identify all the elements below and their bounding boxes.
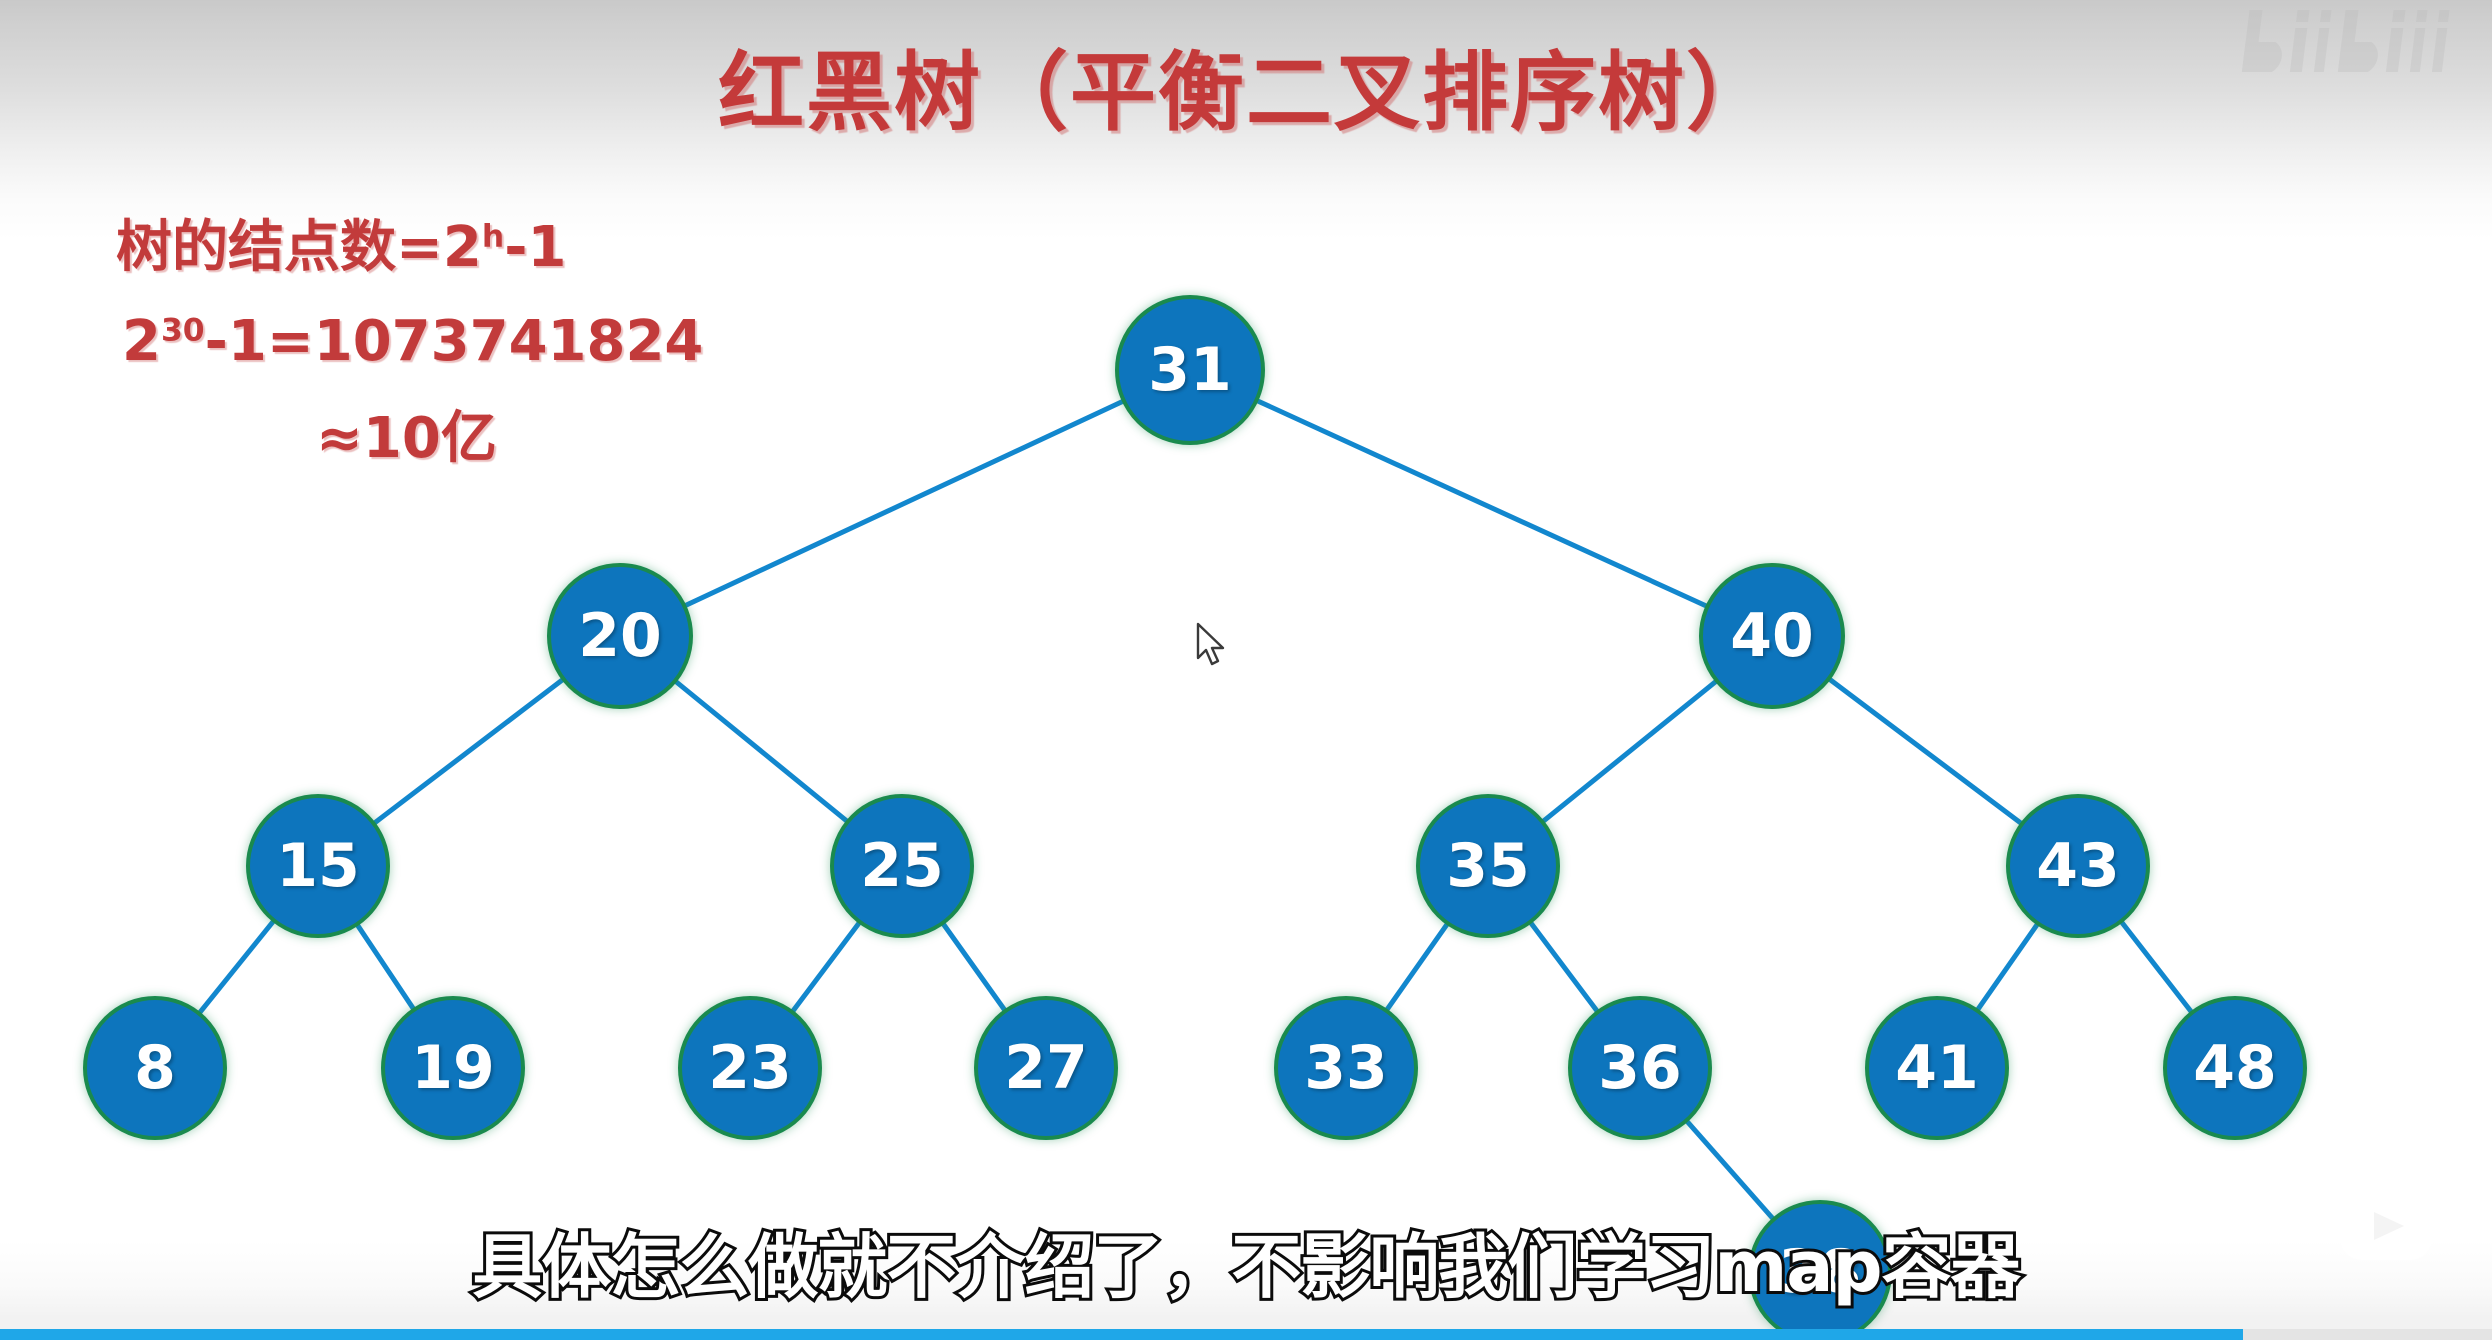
mouse-cursor-icon (1196, 622, 1230, 668)
tree-edge-n43-n48 (2121, 921, 2192, 1012)
formula-block: 树的结点数=2h-1 230-1=1073741824 ≈10亿 (116, 212, 703, 475)
tree-edge-n31-n40 (1256, 400, 1707, 606)
tree-edge-n25-n23 (792, 922, 860, 1012)
tree-node-label: 31 (1148, 335, 1232, 405)
formula-line-approx: ≈10亿 (316, 403, 703, 475)
tree-node-27: 27 (974, 996, 1118, 1140)
formula-2-exponent: 30 (161, 312, 205, 348)
tree-node-25: 25 (830, 794, 974, 938)
tree-node-label: 25 (860, 831, 944, 901)
slide-title: 红黑树（平衡二叉排序树） (0, 22, 2492, 147)
video-progress-fill (0, 1329, 2243, 1340)
tree-node-label: 35 (1446, 831, 1530, 901)
tree-node-15: 15 (246, 794, 390, 938)
tree-edge-n15-n8 (199, 920, 274, 1013)
video-subtitle: 具体怎么做就不介绍了，不影响我们学习map容器 (0, 1211, 2492, 1312)
tree-node-label: 48 (2193, 1033, 2277, 1103)
tree-node-label: 40 (1730, 601, 1814, 671)
formula-2-prefix: 2 (122, 309, 161, 374)
tree-node-label: 8 (134, 1033, 176, 1103)
tree-node-label: 43 (2036, 831, 2120, 901)
tree-node-31: 31 (1115, 295, 1265, 445)
tree-node-label: 36 (1598, 1033, 1682, 1103)
tree-edge-n20-n25 (675, 681, 848, 822)
tree-node-48: 48 (2163, 996, 2307, 1140)
tree-node-40: 40 (1699, 563, 1845, 709)
formula-1-prefix: 树的结点数=2 (116, 215, 482, 280)
tree-edge-n40-n43 (1829, 679, 2022, 824)
formula-1-exponent: h (482, 218, 504, 254)
tree-edge-n43-n41 (1977, 923, 2038, 1010)
tree-edge-n20-n15 (374, 679, 564, 824)
formula-2-suffix: -1=1073741824 (205, 309, 704, 374)
formula-line-2-pow-30: 230-1=1073741824 (122, 306, 703, 378)
tree-node-label: 27 (1004, 1033, 1088, 1103)
tree-edges (0, 0, 2492, 1340)
tree-node-33: 33 (1274, 996, 1418, 1140)
formula-line-node-count: 树的结点数=2h-1 (116, 212, 703, 284)
tree-node-label: 23 (708, 1033, 792, 1103)
tree-edge-n36-n38 (1686, 1120, 1773, 1219)
tree-node-20: 20 (547, 563, 693, 709)
tree-edge-n40-n35 (1542, 681, 1716, 822)
tree-node-41: 41 (1865, 996, 2009, 1140)
tree-node-8: 8 (83, 996, 227, 1140)
tree-edge-n15-n19 (357, 924, 414, 1010)
tree-node-label: 41 (1895, 1033, 1979, 1103)
tree-edge-n25-n27 (943, 923, 1006, 1011)
tree-edge-n31-n20 (684, 401, 1124, 606)
tree-node-label: 33 (1304, 1033, 1388, 1103)
tree-node-label: 19 (411, 1033, 495, 1103)
tree-node-36: 36 (1568, 996, 1712, 1140)
video-frame: 红黑树（平衡二叉排序树） 树的结点数=2h-1 230-1=1073741824… (0, 0, 2492, 1340)
tree-node-19: 19 (381, 996, 525, 1140)
tree-node-label: 20 (578, 601, 662, 671)
tree-node-35: 35 (1416, 794, 1560, 938)
tree-node-23: 23 (678, 996, 822, 1140)
tree-edge-n35-n33 (1386, 923, 1447, 1010)
formula-1-suffix: -1 (504, 215, 566, 280)
tree-edge-n35-n36 (1530, 922, 1598, 1012)
tree-node-43: 43 (2006, 794, 2150, 938)
video-progress-track[interactable] (0, 1329, 2492, 1340)
tree-node-label: 15 (276, 831, 360, 901)
